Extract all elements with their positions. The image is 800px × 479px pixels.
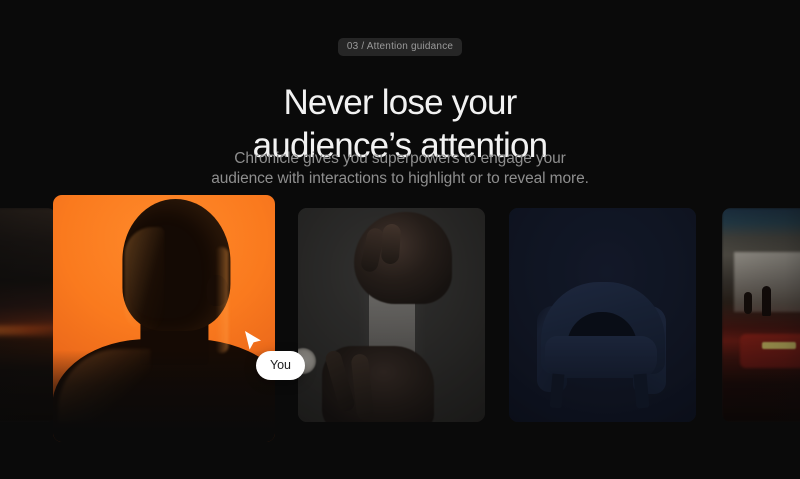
card-dim-overlay [722,208,800,422]
card-dim-overlay [298,208,485,422]
carousel-card-orange-portrait[interactable] [53,195,275,442]
badge-row: 03 / Attention guidance [0,38,800,56]
subheading-line-2: audience with interactions to highlight … [0,169,800,189]
image-carousel[interactable] [0,195,800,445]
hero-section: 03 / Attention guidance Never lose your … [0,0,800,479]
collaborator-cursor[interactable]: You [243,330,323,388]
cursor-label: You [256,351,305,380]
pointer-arrow-icon [243,330,263,352]
subheading: Chronicle gives you superpowers to engag… [0,149,800,189]
card-dim-overlay [0,208,56,422]
card-dim-overlay [509,208,696,422]
carousel-card-night-street-scene[interactable] [722,208,800,422]
carousel-card-navy-armchair[interactable] [509,208,696,422]
card-bottom-fade [53,350,275,442]
carousel-card-hands-perfume-bottle[interactable] [298,208,485,422]
subheading-line-1: Chronicle gives you superpowers to engag… [0,149,800,169]
carousel-card-blurred-dark-streaks[interactable] [0,208,56,422]
section-badge: 03 / Attention guidance [338,38,462,56]
headline-line-1: Never lose your [0,81,800,124]
